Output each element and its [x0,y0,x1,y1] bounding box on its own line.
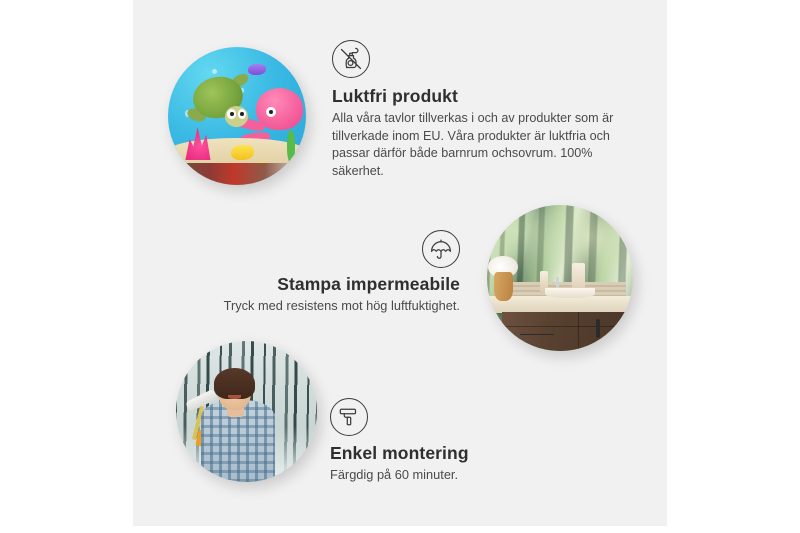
feature-waterproof: Stampa impermeabile Tryck med resistens … [212,230,460,315]
feature-title: Enkel montering [330,443,560,464]
bubble-icon [212,69,217,74]
turtle-head [225,106,248,127]
yellow-fish-icon [231,145,253,160]
product-photo-bathroom [487,205,633,351]
drawer-divider [502,326,633,327]
person-smile [228,395,241,399]
bathroom-scene [487,205,633,351]
product-photo-aquarium [168,47,306,185]
feature-easy-mount: Enkel montering Färgdig på 60 minuter. [330,398,560,484]
paint-roller-icon [330,398,368,436]
feature-title: Stampa impermeabile [212,274,460,295]
vase [494,272,513,301]
feature-body: Tryck med resistens mot hög luftfuktighe… [212,297,460,315]
feature-title: Luktfri produkt [332,86,628,107]
purple-fish-icon [248,64,266,75]
feature-body: Färgdig på 60 minuter. [330,466,560,484]
product-photo-forest [176,341,317,482]
umbrella-icon [422,230,460,268]
turtle-eye [238,109,246,119]
forest-scene [176,341,317,482]
feature-body: Alla våra tavlor tillverkas i och av pro… [332,110,628,180]
photo-lower-strip [168,163,306,185]
vanity-cabinet [502,312,633,351]
feature-odourless: Luktfri produkt Alla våra tavlor tillver… [332,40,628,180]
door-handle [596,319,600,338]
cabinet-divider [578,312,579,351]
seaweed-icon [287,130,295,163]
no-odour-spray-bottle-icon [332,40,370,78]
page-root: Luktfri produkt Alla våra tavlor tillver… [0,0,800,533]
turtle-eye [227,109,235,119]
drawer-handle [520,334,554,336]
aquarium-scene [168,47,306,185]
octopus-eye [266,107,276,118]
sink-basin [545,288,595,298]
